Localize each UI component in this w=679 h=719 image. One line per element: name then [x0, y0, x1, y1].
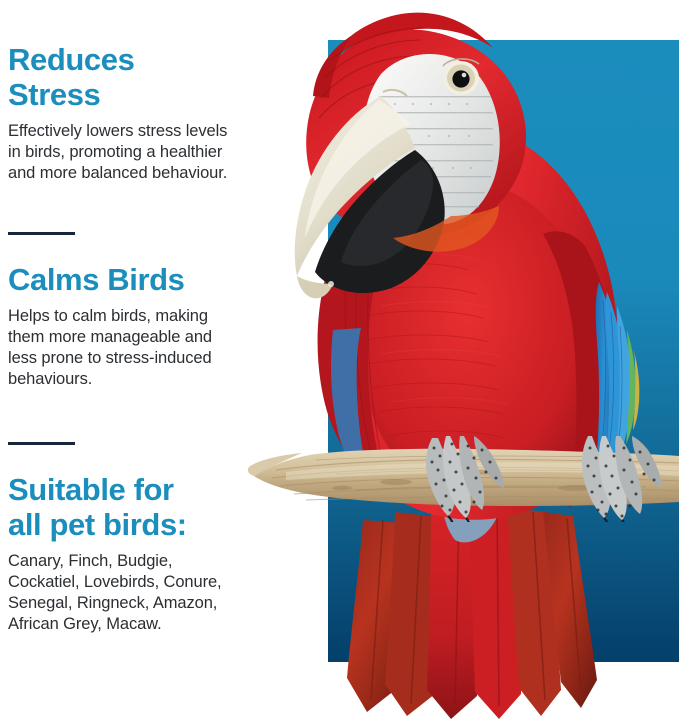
product-feature-panel: Reduces Stress Effectively lowers stress… — [0, 0, 679, 719]
feature-2-body: Helps to calm birds, making them more ma… — [8, 306, 293, 390]
scarlet-macaw-illustration — [255, 0, 679, 719]
feature-block-2: Calms Birds Helps to calm birds, making … — [8, 262, 293, 390]
feature-1-body: Effectively lowers stress levels in bird… — [8, 121, 293, 184]
feature-text-column: Reduces Stress Effectively lowers stress… — [0, 0, 300, 719]
wooden-perch-branch — [246, 436, 679, 522]
feature-3-body: Canary, Finch, Budgie, Cockatiel, Lovebi… — [8, 551, 293, 635]
feature-block-3: Suitable for all pet birds: Canary, Finc… — [8, 472, 293, 635]
section-divider-1 — [8, 232, 75, 235]
feature-3-title: Suitable for all pet birds: — [8, 472, 293, 542]
section-divider-2 — [8, 442, 75, 445]
left-claw — [426, 436, 504, 522]
feature-1-title: Reduces Stress — [8, 42, 293, 112]
feature-block-1: Reduces Stress Effectively lowers stress… — [8, 42, 293, 184]
feature-2-title: Calms Birds — [8, 262, 293, 297]
